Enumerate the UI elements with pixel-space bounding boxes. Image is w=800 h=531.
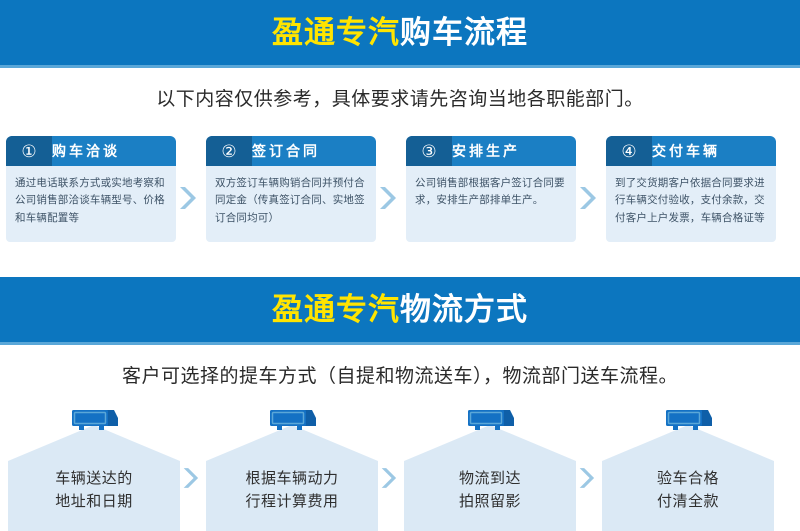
section-1-title: 盈通专汽购车流程	[272, 17, 528, 48]
logistics-card-1-line1: 车辆送达的	[8, 467, 180, 490]
logistics-card-4-line1: 验车合格	[602, 467, 774, 490]
step-1-title: 购车洽谈	[52, 141, 120, 161]
step-3-body: 公司销售部根据客户签订合同要求，安排生产部排单生产。	[406, 166, 576, 242]
brand-name: 盈通专汽	[272, 15, 400, 50]
logistics-card-2-text: 根据车辆动力 行程计算费用	[206, 467, 378, 514]
step-2-header: ② 签订合同	[206, 136, 376, 166]
logistics-card-1-line2: 地址和日期	[8, 490, 180, 513]
logistics-card-3-text: 物流到达 拍照留影	[404, 467, 576, 514]
step-4-title: 交付车辆	[652, 141, 720, 161]
logistics-card-3-line2: 拍照留影	[404, 490, 576, 513]
step-1-header: ① 购车洽谈	[6, 136, 176, 166]
section-2-title-rest: 物流方式	[400, 292, 528, 327]
truck-icon	[66, 404, 122, 434]
step-2-body: 双方签订车辆购销合同并预付合同定金（传真签订合同、实地签订合同均可）	[206, 166, 376, 242]
logistics-card-2[interactable]: 根据车辆动力 行程计算费用	[206, 404, 378, 531]
step-4-header: ④ 交付车辆	[606, 136, 776, 166]
logistics-card-2-line1: 根据车辆动力	[206, 467, 378, 490]
infographic-page: 盈通专汽购车流程 以下内容仅供参考，具体要求请先咨询当地各职能部门。 ① 购车洽…	[0, 0, 800, 531]
logistics-card-1[interactable]: 车辆送达的 地址和日期	[8, 404, 180, 531]
chevron-right-icon-4	[180, 425, 200, 531]
section-1-title-rest: 购车流程	[400, 15, 528, 50]
step-2-title: 签订合同	[252, 141, 320, 161]
step-card-2[interactable]: ② 签订合同 双方签订车辆购销合同并预付合同定金（传真签订合同、实地签订合同均可…	[206, 136, 376, 242]
chevron-right-icon-3	[576, 185, 598, 211]
logistics-card-4[interactable]: 验车合格 付清全款	[602, 404, 774, 531]
step-2-number-badge: ②	[206, 143, 252, 160]
section-2-title: 盈通专汽物流方式	[272, 294, 528, 325]
step-card-1[interactable]: ① 购车洽谈 通过电话联系方式或实地考察和公司销售部洽谈车辆型号、价格和车辆配置…	[6, 136, 176, 242]
step-3-title: 安排生产	[452, 141, 520, 161]
section-2-banner: 盈通专汽物流方式	[0, 277, 800, 345]
purchase-steps-row: ① 购车洽谈 通过电话联系方式或实地考察和公司销售部洽谈车辆型号、价格和车辆配置…	[0, 136, 800, 246]
brand-name-2: 盈通专汽	[272, 292, 400, 327]
section-2-subtitle: 客户可选择的提车方式（自提和物流送车），物流部门送车流程。	[0, 361, 800, 388]
logistics-card-1-text: 车辆送达的 地址和日期	[8, 467, 180, 514]
logistics-card-4-text: 验车合格 付清全款	[602, 467, 774, 514]
step-1-body: 通过电话联系方式或实地考察和公司销售部洽谈车辆型号、价格和车辆配置等	[6, 166, 176, 242]
section-1-subtitle: 以下内容仅供参考，具体要求请先咨询当地各职能部门。	[0, 84, 800, 111]
section-1-banner: 盈通专汽购车流程	[0, 0, 800, 68]
truck-icon	[264, 404, 320, 434]
step-4-body: 到了交货期客户依据合同要求进行车辆交付验收，支付余款，交付客户上户发票，车辆合格…	[606, 166, 776, 242]
step-card-4[interactable]: ④ 交付车辆 到了交货期客户依据合同要求进行车辆交付验收，支付余款，交付客户上户…	[606, 136, 776, 242]
step-card-3[interactable]: ③ 安排生产 公司销售部根据客户签订合同要求，安排生产部排单生产。	[406, 136, 576, 242]
step-3-header: ③ 安排生产	[406, 136, 576, 166]
logistics-steps-row: 车辆送达的 地址和日期 根据车辆动力 行程计算费用	[0, 404, 800, 531]
chevron-right-icon-1	[176, 185, 198, 211]
logistics-card-4-line2: 付清全款	[602, 490, 774, 513]
truck-icon	[462, 404, 518, 434]
truck-icon	[660, 404, 716, 434]
chevron-right-icon-2	[376, 185, 398, 211]
step-1-number-badge: ①	[6, 143, 52, 160]
logistics-card-2-line2: 行程计算费用	[206, 490, 378, 513]
step-3-number-badge: ③	[406, 143, 452, 160]
chevron-right-icon-5	[378, 425, 398, 531]
chevron-right-icon-6	[576, 425, 596, 531]
logistics-card-3[interactable]: 物流到达 拍照留影	[404, 404, 576, 531]
logistics-card-3-line1: 物流到达	[404, 467, 576, 490]
step-4-number-badge: ④	[606, 143, 652, 160]
